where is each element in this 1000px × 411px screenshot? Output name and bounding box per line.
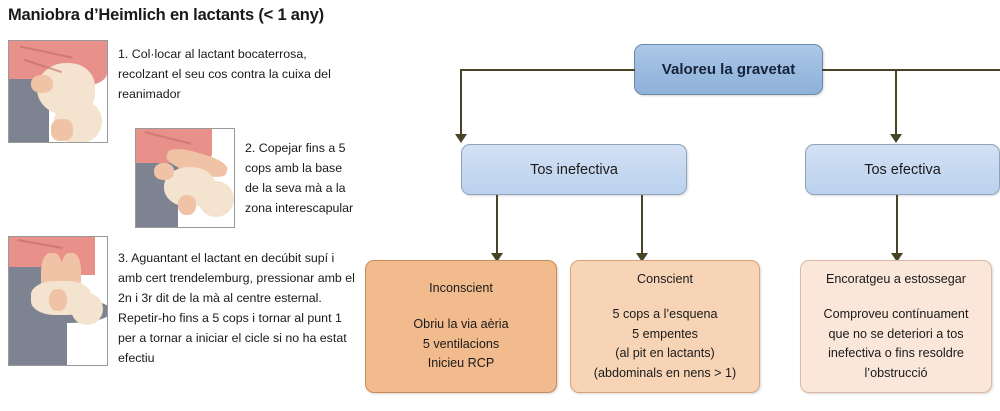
node-conscient-head: Conscient bbox=[571, 270, 759, 290]
node-conscient-line-3: (al pit en lactants) bbox=[571, 344, 759, 364]
arrow-root-to-tos-inefectiva bbox=[455, 134, 467, 143]
connector-inefectiva-to-conscient bbox=[641, 195, 643, 255]
page-title: Maniobra d’Heimlich en lactants (< 1 any… bbox=[8, 6, 324, 25]
node-encoratgeu-head: Encoratgeu a estossegar bbox=[801, 270, 991, 290]
connector-root-to-right-vertical bbox=[895, 69, 897, 136]
node-valoreu-la-gravetat[interactable]: Valoreu la gravetat bbox=[634, 44, 823, 95]
infant-prone-on-thigh-illustration bbox=[8, 40, 108, 143]
step-2-text: 2. Copejar fins a 5 cops amb la base de … bbox=[245, 138, 355, 218]
flowchart-page: Maniobra d’Heimlich en lactants (< 1 any… bbox=[0, 0, 1000, 411]
node-tos-efectiva-label: Tos efectiva bbox=[806, 162, 999, 178]
flowchart: Valoreu la gravetat Tos inefectiva Tos e… bbox=[355, 0, 1000, 411]
node-tos-efectiva[interactable]: Tos efectiva bbox=[805, 144, 1000, 195]
arrow-root-to-tos-efectiva bbox=[890, 134, 902, 143]
node-conscient-line-2: 5 empentes bbox=[571, 325, 759, 345]
connector-inefectiva-to-inconscient bbox=[496, 195, 498, 255]
node-encoratgeu-line-2: que no se deteriori a tos bbox=[801, 325, 991, 345]
connector-efectiva-to-encoratgeu bbox=[896, 195, 898, 255]
node-inconscient-line-2: 5 ventilacions bbox=[366, 335, 556, 355]
connector-root-to-right-horizontal bbox=[822, 69, 1000, 71]
node-conscient-line-1: 5 cops a l’esquena bbox=[571, 305, 759, 325]
node-tos-inefectiva[interactable]: Tos inefectiva bbox=[461, 144, 687, 195]
node-encoratgeu-line-4: l’obstrucció bbox=[801, 364, 991, 384]
step-3-text: 3. Aguantant el lactant en decúbit supí … bbox=[118, 248, 360, 369]
node-inconscient-line-1: Obriu la via aèria bbox=[366, 315, 556, 335]
connector-root-to-left-vertical bbox=[460, 69, 462, 136]
infant-back-blows-illustration bbox=[135, 128, 235, 228]
node-inconscient-line-3: Inicieu RCP bbox=[366, 354, 556, 374]
node-encoratgeu-line-1: Comproveu contínuament bbox=[801, 305, 991, 325]
node-conscient-line-4: (abdominals en nens > 1) bbox=[571, 364, 759, 384]
node-valoreu-la-gravetat-label: Valoreu la gravetat bbox=[635, 61, 822, 78]
node-tos-inefectiva-label: Tos inefectiva bbox=[462, 162, 686, 178]
node-encoratgeu-a-estossegar[interactable]: Encoratgeu a estossegar Comproveu contín… bbox=[800, 260, 992, 393]
connector-root-to-left-horizontal bbox=[460, 69, 635, 71]
step-1-text: 1. Col·locar al lactant bocaterrosa, rec… bbox=[118, 44, 348, 104]
node-inconscient-head: Inconscient bbox=[366, 279, 556, 299]
node-encoratgeu-line-3: inefectiva o fins resoldre bbox=[801, 344, 991, 364]
node-conscient[interactable]: Conscient 5 cops a l’esquena 5 empentes … bbox=[570, 260, 760, 393]
infant-chest-thrusts-illustration bbox=[8, 236, 108, 366]
node-inconscient[interactable]: Inconscient Obriu la via aèria 5 ventila… bbox=[365, 260, 557, 393]
